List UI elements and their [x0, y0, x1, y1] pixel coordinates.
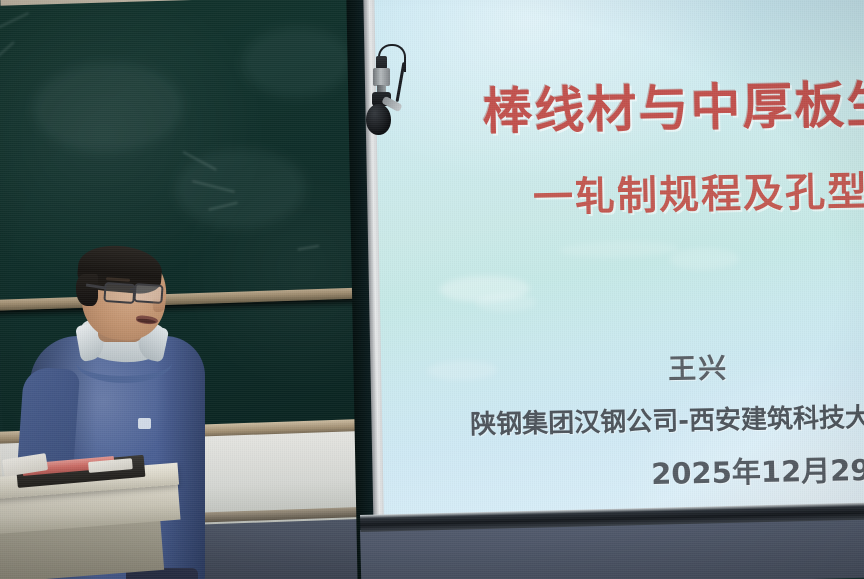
lecture-photo-scene: 棒线材与中厚板生产 一轧制规程及孔型设计 王兴 陕钢集团汉钢公司-西安建筑科技大…: [0, 0, 864, 579]
presenter-nose: [153, 298, 165, 312]
slide-affiliation: 陕钢集团汉钢公司-西安建筑科技大学: [470, 396, 864, 441]
slide-presenter-name: 王兴: [668, 347, 729, 388]
chalk-smudge: [32, 60, 185, 154]
slide-watermark: [476, 293, 536, 312]
chalk-streak: [0, 12, 29, 29]
slide-watermark: [559, 240, 679, 258]
sweater-logo: [138, 418, 151, 429]
microphone-body: [373, 68, 390, 86]
slide-date: 2025年12月29日: [651, 446, 864, 493]
presenter-hair-side: [76, 274, 98, 306]
slide-title-line-1: 棒线材与中厚板生产: [482, 63, 864, 144]
chalk-smudge: [241, 25, 353, 98]
chalk-streak: [297, 245, 319, 251]
microphone-windscreen: [366, 104, 391, 135]
sweater-neckline: [76, 342, 172, 383]
projector-screen: 棒线材与中厚板生产 一轧制规程及孔型设计 王兴 陕钢集团汉钢公司-西安建筑科技大…: [374, 0, 864, 538]
slide-title-line-2: 一轧制规程及孔型设计: [532, 157, 864, 223]
chalk-streak: [0, 41, 15, 60]
glasses-bridge: [130, 288, 136, 290]
glasses-left-lens: [103, 282, 135, 304]
microphone: [366, 44, 406, 136]
slide-watermark: [427, 360, 497, 381]
slide-watermark: [669, 247, 739, 270]
